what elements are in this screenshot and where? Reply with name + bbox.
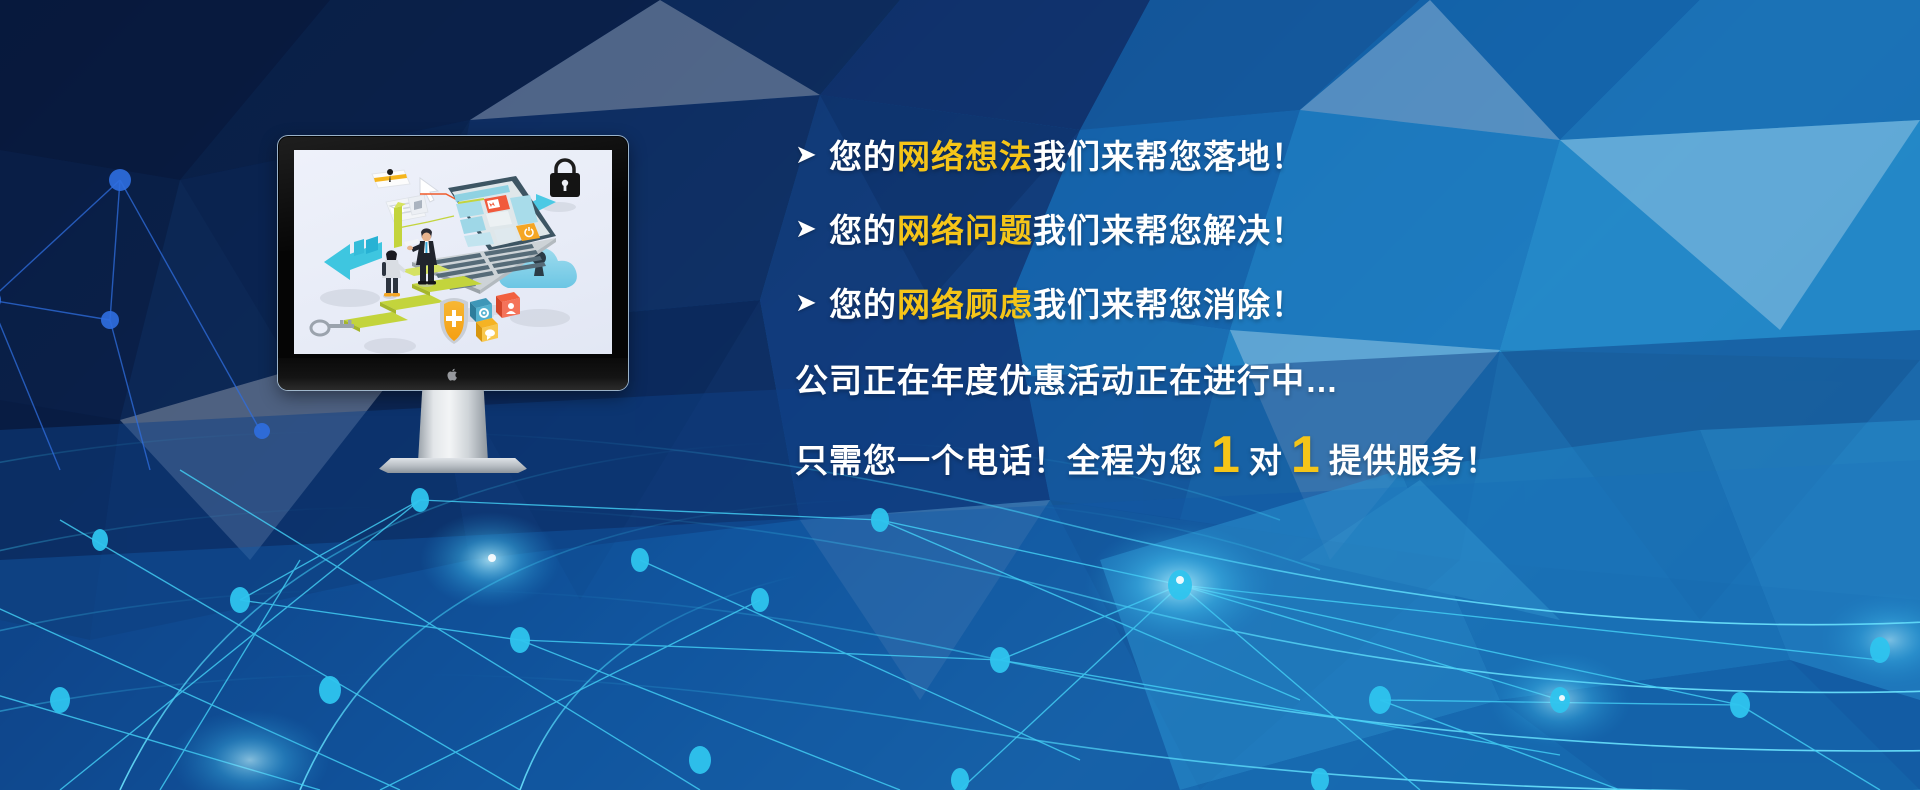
bullet-3-pre: 您的	[829, 286, 897, 323]
document-icon	[386, 195, 428, 248]
shield-with-cross-icon	[440, 298, 468, 344]
imac-monitor	[278, 136, 628, 390]
monitor-screen	[294, 150, 612, 354]
cta-middle: 对	[1249, 434, 1283, 482]
gear-app-icon	[470, 298, 492, 322]
bullet-1-pre: 您的	[829, 138, 897, 175]
user-app-icon	[496, 292, 520, 318]
padlock-icon	[550, 160, 580, 197]
visitor-figure	[382, 250, 406, 299]
bullet-text-3: 您的网络顾虑我们来帮您消除！	[829, 278, 1305, 326]
monitor-stand-neck	[418, 390, 488, 462]
bullet-item-3: ➤ 您的网络顾虑我们来帮您消除！	[795, 278, 1795, 326]
chat-app-icon	[476, 318, 498, 342]
bullet-item-2: ➤ 您的网络问题我们来帮您解决！	[795, 204, 1795, 252]
cta-tail: 提供服务！	[1329, 434, 1499, 482]
headline-copy: ➤ 您的网络想法我们来帮您落地！ ➤ 您的网络问题我们来帮您解决！ ➤ 您的网络…	[795, 130, 1795, 482]
bullet-2-highlight: 网络问题	[897, 212, 1033, 249]
promo-banner: ➤ 您的网络想法我们来帮您落地！ ➤ 您的网络问题我们来帮您解决！ ➤ 您的网络…	[0, 0, 1920, 790]
cta-lead: 只需您一个电话！全程为您	[795, 434, 1203, 482]
arrow-right-icon: ➤	[795, 215, 829, 241]
bullet-1-post: 我们来帮您落地！	[1033, 138, 1305, 175]
isometric-security-illustration	[294, 150, 612, 354]
arrow-right-icon: ➤	[795, 141, 829, 167]
bullet-2-pre: 您的	[829, 212, 897, 249]
apple-icon	[448, 368, 459, 381]
bullet-3-post: 我们来帮您消除！	[1033, 286, 1305, 323]
cta-number-one: 1	[1203, 432, 1249, 479]
bullet-text-2: 您的网络问题我们来帮您解决！	[829, 204, 1305, 252]
businessman-figure	[404, 228, 437, 287]
bullet-2-post: 我们来帮您解决！	[1033, 212, 1305, 249]
promo-line: 公司正在年度优惠活动正在进行中…	[795, 354, 1795, 402]
bullet-3-highlight: 网络顾虑	[897, 286, 1033, 323]
bullet-text-1: 您的网络想法我们来帮您落地！	[829, 130, 1305, 178]
monitor-chin	[278, 358, 628, 390]
arrow-right-icon: ➤	[795, 289, 829, 315]
cta-number-two: 1	[1283, 432, 1329, 479]
bullet-item-1: ➤ 您的网络想法我们来帮您落地！	[795, 130, 1795, 178]
left-arrow-icon	[324, 236, 382, 280]
cta-line: 只需您一个电话！全程为您 1 对 1 提供服务！	[795, 432, 1795, 482]
monitor-stand-base	[379, 458, 527, 473]
bullet-1-highlight: 网络想法	[897, 138, 1033, 175]
credit-card-icon	[372, 169, 410, 188]
